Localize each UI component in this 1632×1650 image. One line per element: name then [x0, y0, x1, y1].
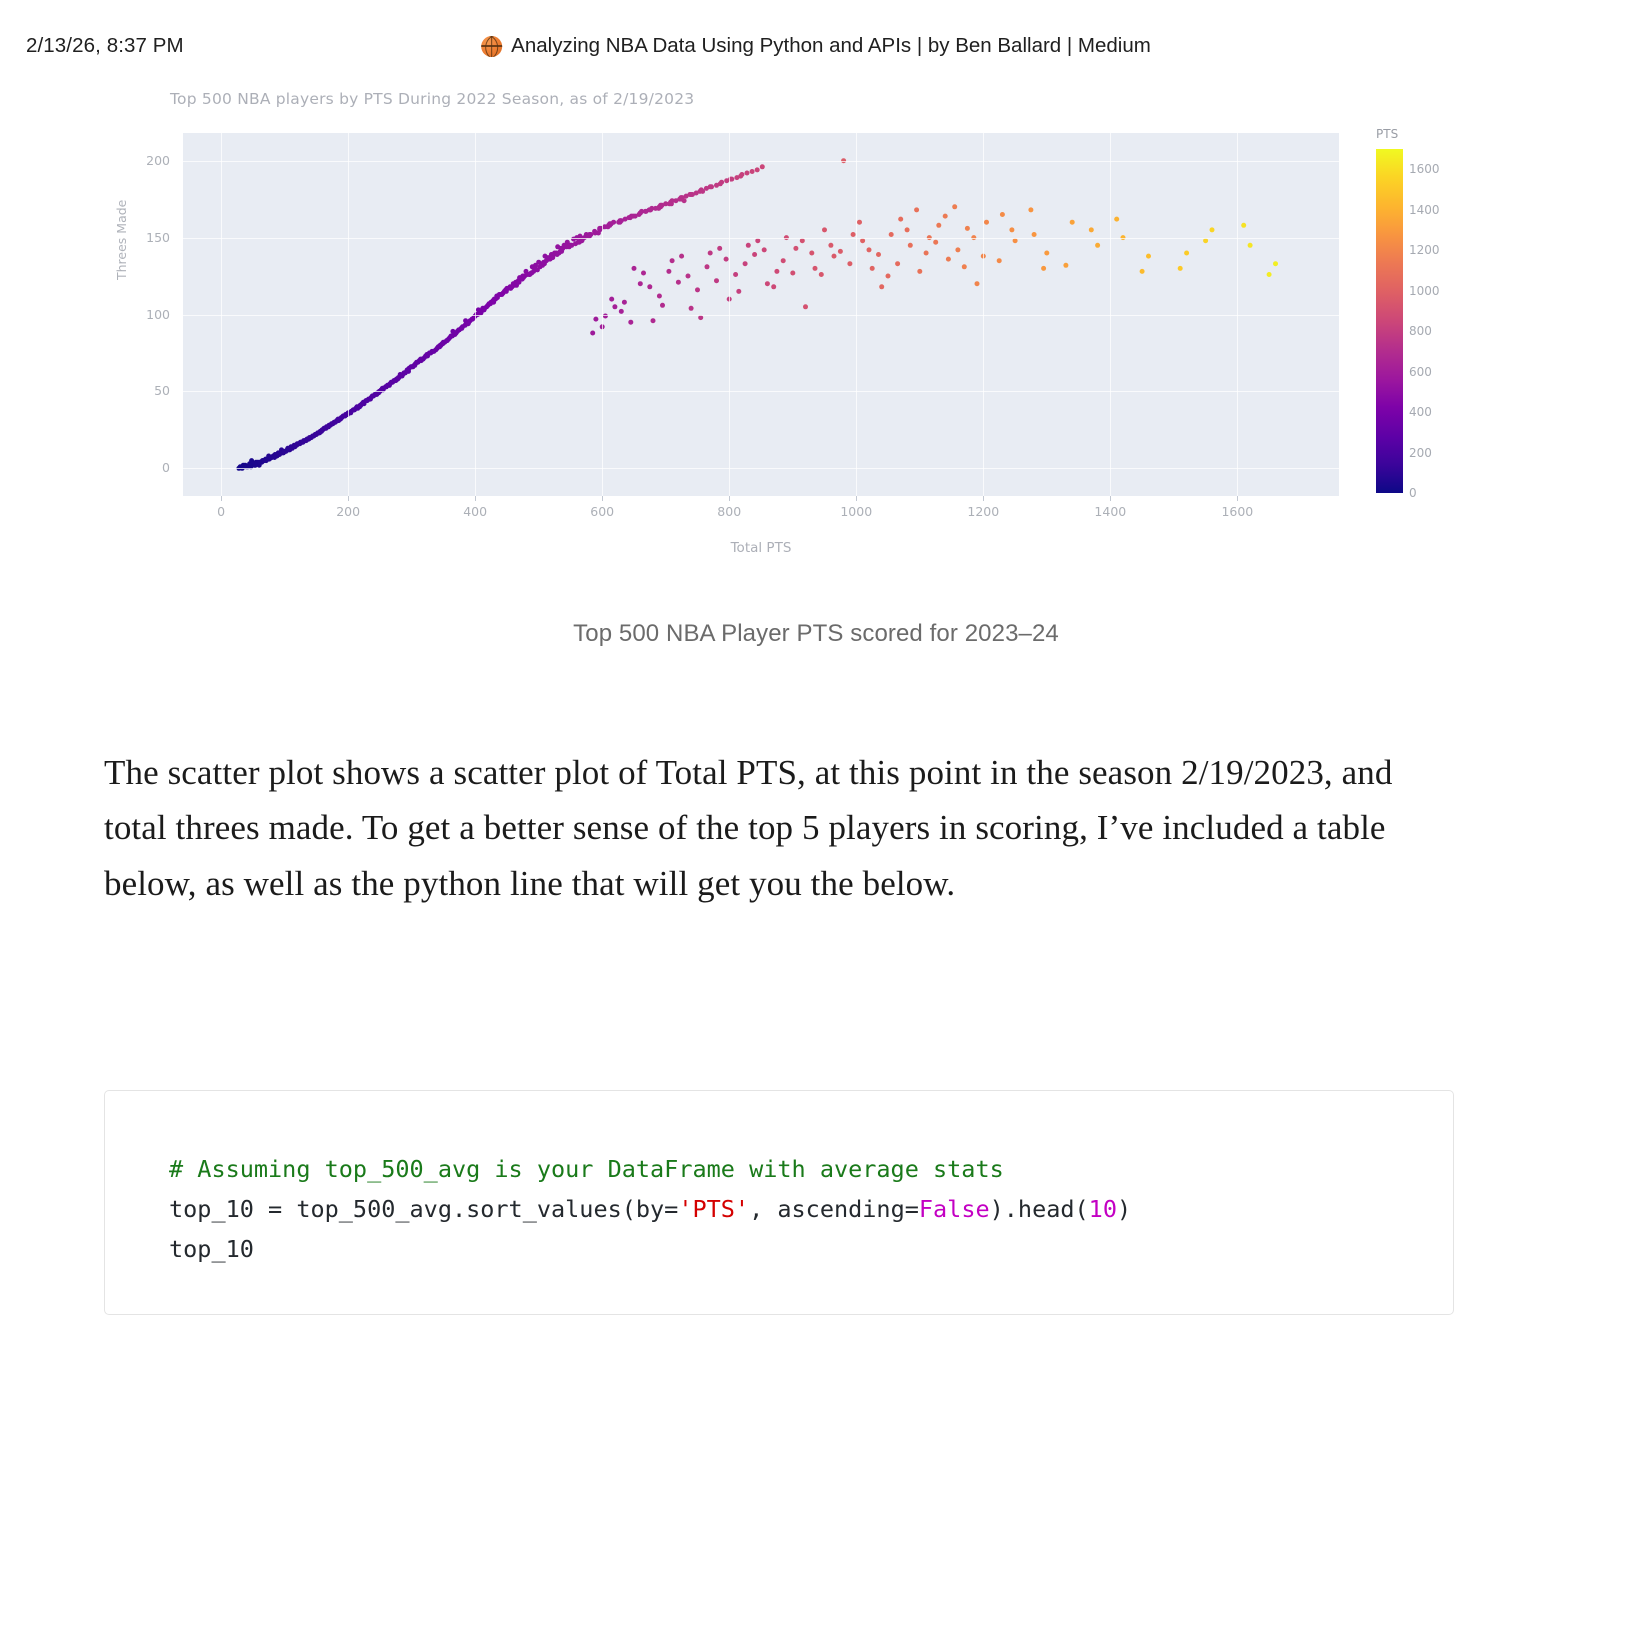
- gridline-horizontal: [183, 238, 1339, 239]
- colorbar-tick-label: 1400: [1409, 203, 1440, 217]
- colorbar-tick-label: 1200: [1409, 243, 1440, 257]
- x-tick-mark: [1237, 496, 1238, 501]
- y-tick-label: 100: [124, 307, 170, 322]
- x-axis-title: Total PTS: [183, 540, 1339, 556]
- code-line2-part-b: , ascending=: [749, 1195, 919, 1223]
- x-tick-label: 1200: [956, 504, 1010, 519]
- y-tick-label: 0: [124, 460, 170, 475]
- basketball-icon: [481, 36, 502, 57]
- gridline-horizontal: [183, 315, 1339, 316]
- plot-area: [183, 133, 1339, 496]
- x-tick-mark: [856, 496, 857, 501]
- document-title-header: Analyzing NBA Data Using Python and APIs…: [481, 34, 1151, 58]
- colorbar-tick-label: 400: [1409, 405, 1432, 419]
- y-tick-label: 50: [124, 383, 170, 398]
- colorbar-tick-label: 1000: [1409, 284, 1440, 298]
- colorbar-gradient: [1376, 149, 1403, 493]
- gridline-horizontal: [183, 391, 1339, 392]
- gridline-horizontal: [183, 161, 1339, 162]
- gridline-horizontal: [183, 468, 1339, 469]
- x-tick-mark: [1110, 496, 1111, 501]
- colorbar-tick-label: 200: [1409, 446, 1432, 460]
- code-comment-line: # Assuming top_500_avg is your DataFrame…: [169, 1155, 1004, 1183]
- code-line-2: top_10 = top_500_avg.sort_values(by='PTS…: [169, 1195, 1131, 1223]
- x-tick-mark: [475, 496, 476, 501]
- print-timestamp: 2/13/26, 8:37 PM: [26, 34, 184, 58]
- colorbar-tick-label: 0: [1409, 486, 1417, 500]
- y-tick-label: 150: [124, 230, 170, 245]
- code-line2-number: 10: [1089, 1195, 1117, 1223]
- x-tick-label: 600: [575, 504, 629, 519]
- colorbar-tick-label: 800: [1409, 324, 1432, 338]
- scatter-plot-figure: Top 500 NBA players by PTS During 2022 S…: [108, 84, 1528, 584]
- x-tick-label: 400: [448, 504, 502, 519]
- code-content: # Assuming top_500_avg is your DataFrame…: [169, 1149, 1131, 1269]
- colorbar-tick-label: 600: [1409, 365, 1432, 379]
- document-title-text: Analyzing NBA Data Using Python and APIs…: [511, 34, 1151, 58]
- code-line-3: top_10: [169, 1235, 254, 1263]
- x-tick-mark: [348, 496, 349, 501]
- figure-caption: Top 500 NBA Player PTS scored for 2023–2…: [0, 620, 1632, 648]
- code-block: # Assuming top_500_avg is your DataFrame…: [104, 1090, 1454, 1315]
- x-tick-mark: [602, 496, 603, 501]
- code-line2-string: 'PTS': [678, 1195, 749, 1223]
- x-tick-mark: [983, 496, 984, 501]
- code-line2-part-c: ).head(: [990, 1195, 1089, 1223]
- colorbar-title: PTS: [1376, 127, 1398, 141]
- code-line2-part-a: top_10 = top_500_avg.sort_values(by=: [169, 1195, 678, 1223]
- colorbar-tick-label: 1600: [1409, 162, 1440, 176]
- x-tick-label: 800: [702, 504, 756, 519]
- x-tick-label: 200: [321, 504, 375, 519]
- x-tick-label: 1400: [1083, 504, 1137, 519]
- x-tick-label: 1000: [829, 504, 883, 519]
- code-line2-const: False: [919, 1195, 990, 1223]
- print-header: 2/13/26, 8:37 PM Analyzing NBA Data Usin…: [0, 0, 1632, 86]
- x-tick-label: 0: [194, 504, 248, 519]
- colorbar: PTS 02004006008001000120014001600: [1376, 127, 1526, 507]
- article-paragraph: The scatter plot shows a scatter plot of…: [104, 745, 1449, 911]
- x-tick-label: 1600: [1210, 504, 1264, 519]
- basketball-seam-right: [485, 36, 502, 57]
- y-tick-label: 200: [124, 153, 170, 168]
- chart-title: Top 500 NBA players by PTS During 2022 S…: [170, 90, 694, 108]
- x-tick-mark: [729, 496, 730, 501]
- code-line2-part-d: ): [1117, 1195, 1131, 1223]
- x-tick-mark: [221, 496, 222, 501]
